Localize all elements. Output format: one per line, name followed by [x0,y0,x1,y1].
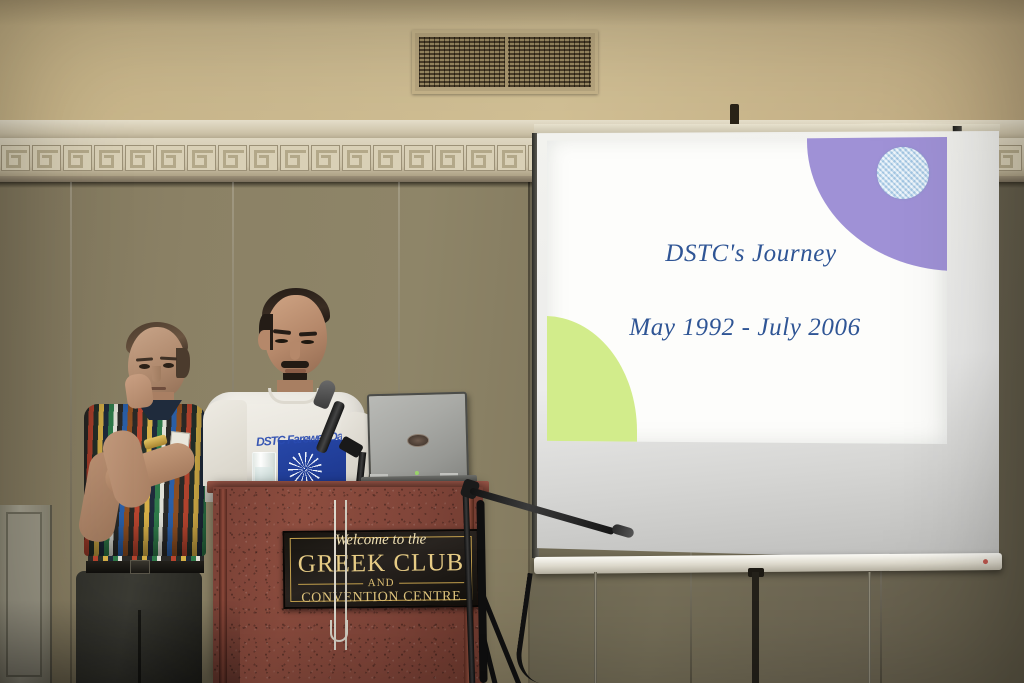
eye-left [275,339,288,343]
nose [152,366,161,382]
screen-stand-leg [868,572,871,683]
plaque-line-venue: GREEK CLUB [298,550,465,577]
meander-unit [156,145,185,171]
plaque-line-welcome: Welcome to the [335,533,426,549]
laptop-logo-badge [407,433,429,447]
meander-unit [497,145,526,171]
laptop-lid[interactable] [367,392,469,483]
meander-unit [466,145,495,171]
meander-unit [125,145,154,171]
projected-slide: DSTC's Journey May 1992 - July 2006 [547,137,947,444]
meander-unit [280,145,309,171]
plaque-rule-left [299,583,363,585]
eye-right [163,363,174,368]
foreground-shadow [0,600,240,683]
plaque-line-subtitle: CONVENTION CENTRE [301,590,461,606]
slide-text-block: DSTC's Journey May 1992 - July 2006 [547,137,947,444]
nose [290,342,300,360]
meander-unit [404,145,433,171]
belt-buckle [130,560,150,574]
meander-unit [342,145,371,171]
meander-unit [63,145,92,171]
meander-unit [311,145,340,171]
meander-unit [187,145,216,171]
plaque-text-block: Welcome to the GREEK CLUB AND CONVENTION… [285,531,478,607]
meander-unit [249,145,278,171]
meander-unit [373,145,402,171]
meander-unit [32,145,61,171]
ceiling-shadow [0,0,1024,26]
eye-left [139,364,150,369]
screen-center-post [752,572,759,683]
shoulder-left [203,400,247,486]
eye-right [301,340,314,344]
slide-subtitle: May 1992 - July 2006 [629,314,860,342]
white-cable-loop [330,620,348,642]
meander-unit [218,145,247,171]
plaque-rule-right [400,582,464,584]
laptop-status-led [415,471,419,475]
slide-title: DSTC's Journey [665,240,836,268]
vent-divider [505,37,508,87]
ear [258,330,270,350]
screen-bar-marker [983,559,988,564]
moustache [281,361,309,368]
air-vent-grille [412,30,598,94]
plaque-and-row: AND [299,577,464,590]
meander-unit [94,145,123,171]
hair-side [176,348,190,378]
plaque-line-and: AND [368,578,395,589]
meander-unit [1,145,30,171]
photograph-scene: DSTC's Journey May 1992 - July 2006 [0,0,1024,683]
podium-plaque: Welcome to the GREEK CLUB AND CONVENTION… [283,529,480,609]
meander-unit [435,145,464,171]
